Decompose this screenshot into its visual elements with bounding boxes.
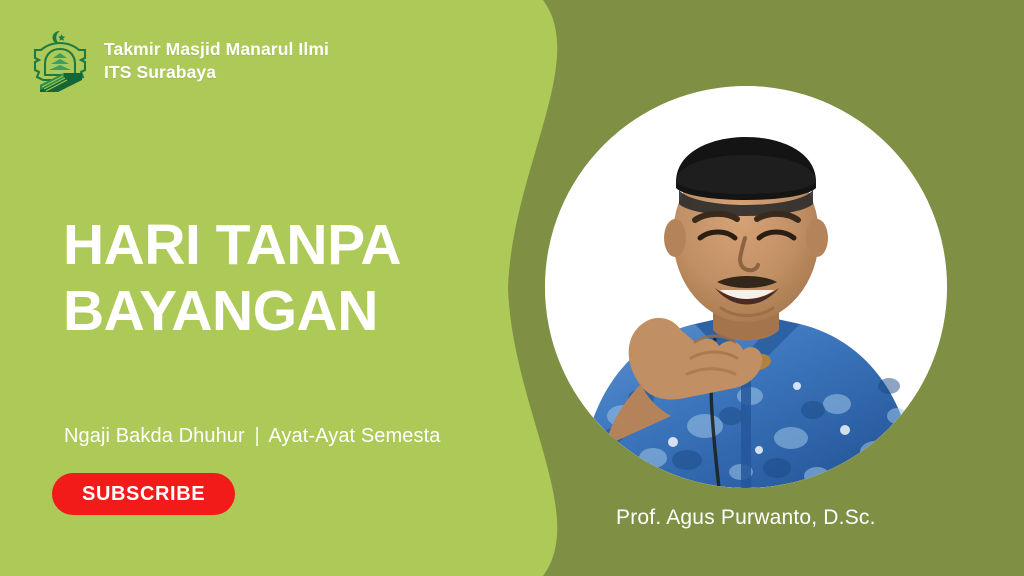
page-title: HARI TANPA BAYANGAN: [63, 212, 533, 344]
subtitle-right: Ayat-Ayat Semesta: [268, 425, 440, 447]
subtitle: Ngaji Bakda Dhuhur | Ayat-Ayat Semesta: [64, 424, 441, 448]
speaker-name: Prof. Agus Purwanto, D.Sc.: [616, 506, 876, 530]
subtitle-left: Ngaji Bakda Dhuhur: [64, 425, 245, 447]
subscribe-button[interactable]: SUBSCRIBE: [52, 473, 235, 515]
subtitle-separator: |: [250, 425, 263, 447]
brand-name: Takmir Masjid Manarul Ilmi ITS Surabaya: [104, 38, 329, 84]
page-title-line1: HARI TANPA: [63, 212, 533, 278]
page-title-line2: BAYANGAN: [63, 278, 533, 344]
thumbnail-canvas: Takmir Masjid Manarul Ilmi ITS Surabaya …: [0, 0, 1024, 576]
brand-name-line1: Takmir Masjid Manarul Ilmi: [104, 38, 329, 61]
brand-lockup: Takmir Masjid Manarul Ilmi ITS Surabaya: [30, 30, 329, 92]
portrait-illustration: [545, 86, 947, 488]
speaker-portrait: [545, 86, 947, 488]
mosque-gear-book-logo-icon: [30, 30, 90, 92]
brand-name-line2: ITS Surabaya: [104, 61, 329, 84]
